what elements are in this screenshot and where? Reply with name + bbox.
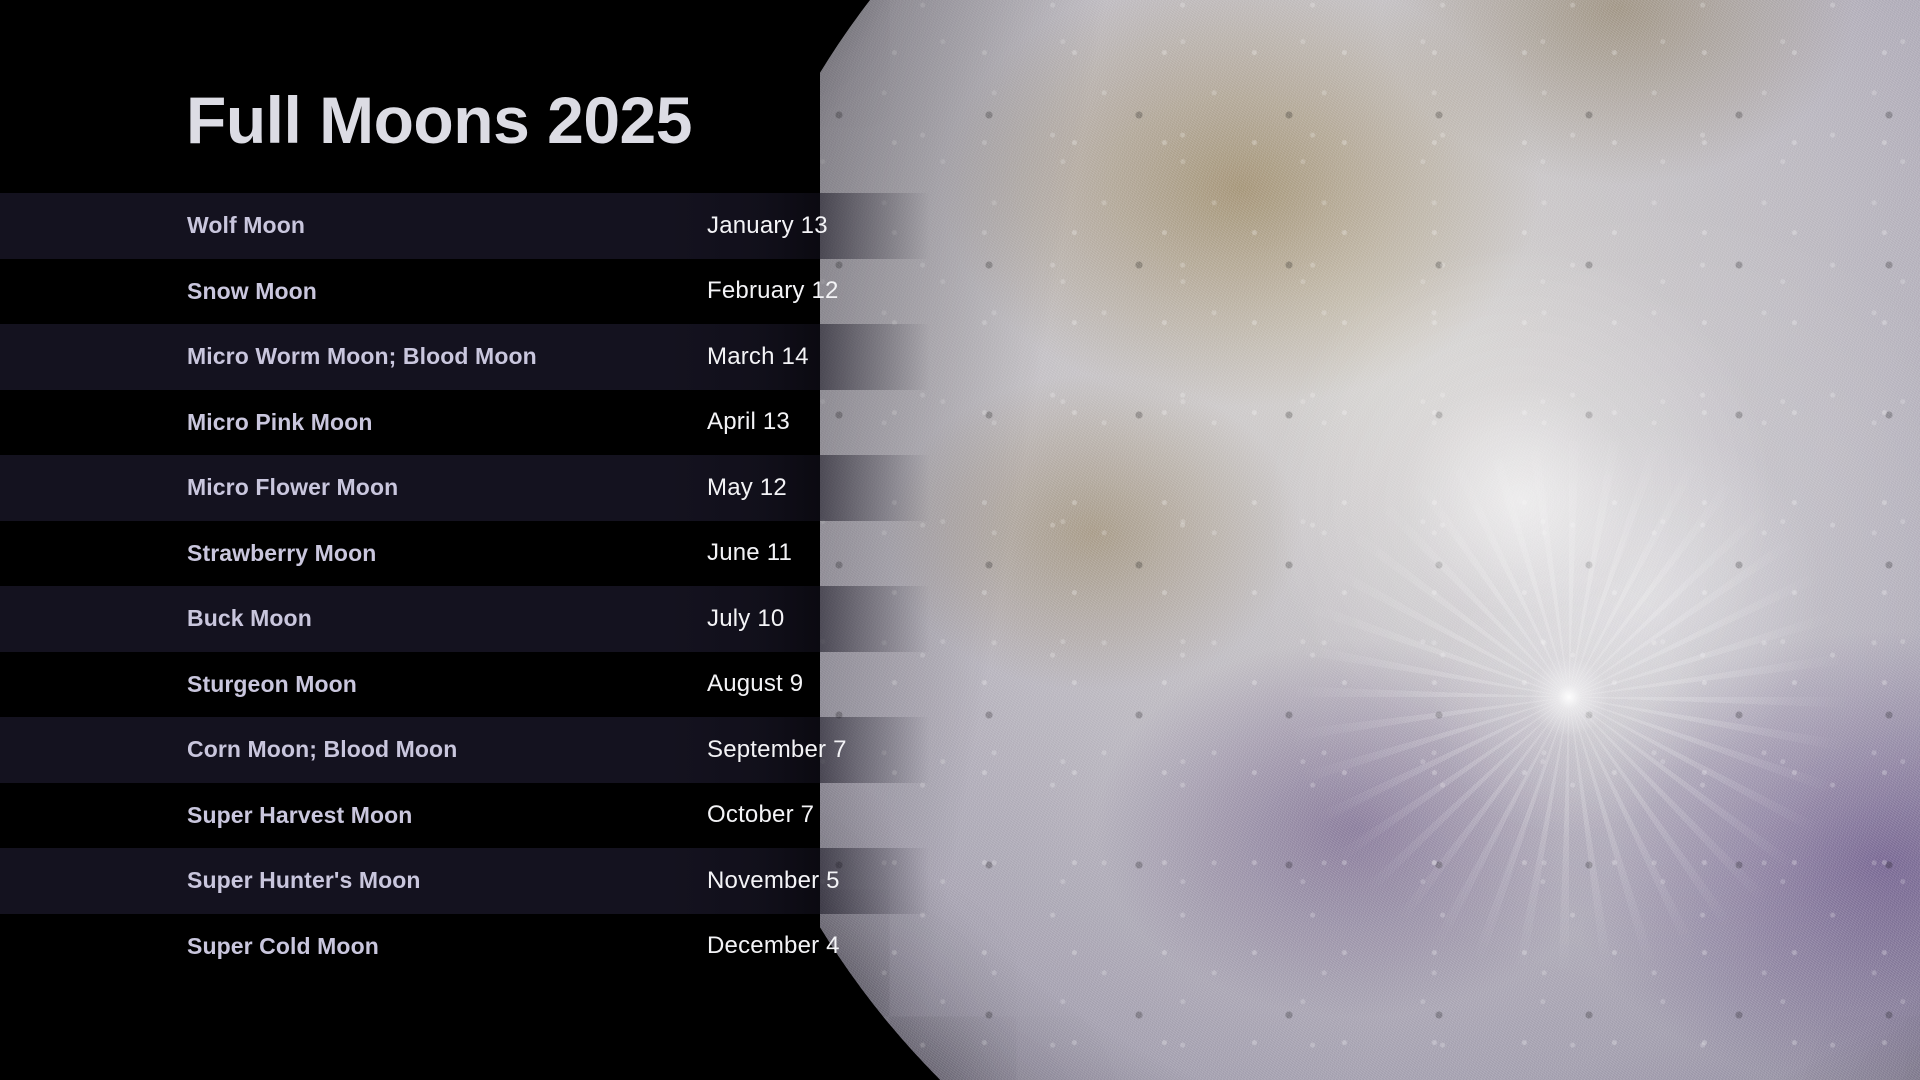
content-panel: Full Moons 2025 Wolf MoonJanuary 13Snow … [0,0,1060,1080]
moon-date: October 7 [707,801,814,829]
moon-date: June 11 [707,539,792,567]
moon-name: Sturgeon Moon [187,671,517,698]
moon-name: Super Harvest Moon [187,802,517,829]
moon-name: Snow Moon [187,278,517,305]
table-row[interactable]: Sturgeon MoonAugust 9 [0,652,1060,718]
table-row[interactable]: Snow MoonFebruary 12 [0,259,1060,325]
moon-date: July 10 [707,605,784,633]
table-row[interactable]: Micro Flower MoonMay 12 [0,455,1060,521]
moon-name: Super Hunter's Moon [187,867,517,894]
moon-date: April 13 [707,408,790,436]
moon-name: Corn Moon; Blood Moon [187,736,517,763]
moon-date: January 13 [707,212,828,240]
table-row[interactable]: Buck MoonJuly 10 [0,586,1060,652]
tycho-ray-crater-icon [1289,417,1849,977]
table-row[interactable]: Super Cold MoonDecember 4 [0,914,1060,980]
table-row[interactable]: Micro Pink MoonApril 13 [0,390,1060,456]
moon-date: December 4 [707,932,840,960]
moon-name: Micro Pink Moon [187,409,517,436]
moon-name: Super Cold Moon [187,933,517,960]
moon-name: Buck Moon [187,605,517,632]
table-row[interactable]: Super Harvest MoonOctober 7 [0,783,1060,849]
table-row[interactable]: Micro Worm Moon; Blood MoonMarch 14 [0,324,1060,390]
moon-date: May 12 [707,474,787,502]
table-row[interactable]: Strawberry MoonJune 11 [0,521,1060,587]
table-row[interactable]: Super Hunter's MoonNovember 5 [0,848,1060,914]
moon-name: Micro Flower Moon [187,474,517,501]
moon-date: February 12 [707,277,839,305]
table-row[interactable]: Corn Moon; Blood MoonSeptember 7 [0,717,1060,783]
moon-date: March 14 [707,343,809,371]
page-title: Full Moons 2025 [186,82,692,158]
table-row[interactable]: Wolf MoonJanuary 13 [0,193,1060,259]
moon-name: Strawberry Moon [187,540,517,567]
moon-name: Wolf Moon [187,212,517,239]
moon-date: September 7 [707,736,847,764]
full-moons-table: Wolf MoonJanuary 13Snow MoonFebruary 12M… [0,193,1060,979]
moon-date: November 5 [707,867,840,895]
moon-name: Micro Worm Moon; Blood Moon [187,343,517,370]
moon-date: August 9 [707,670,803,698]
